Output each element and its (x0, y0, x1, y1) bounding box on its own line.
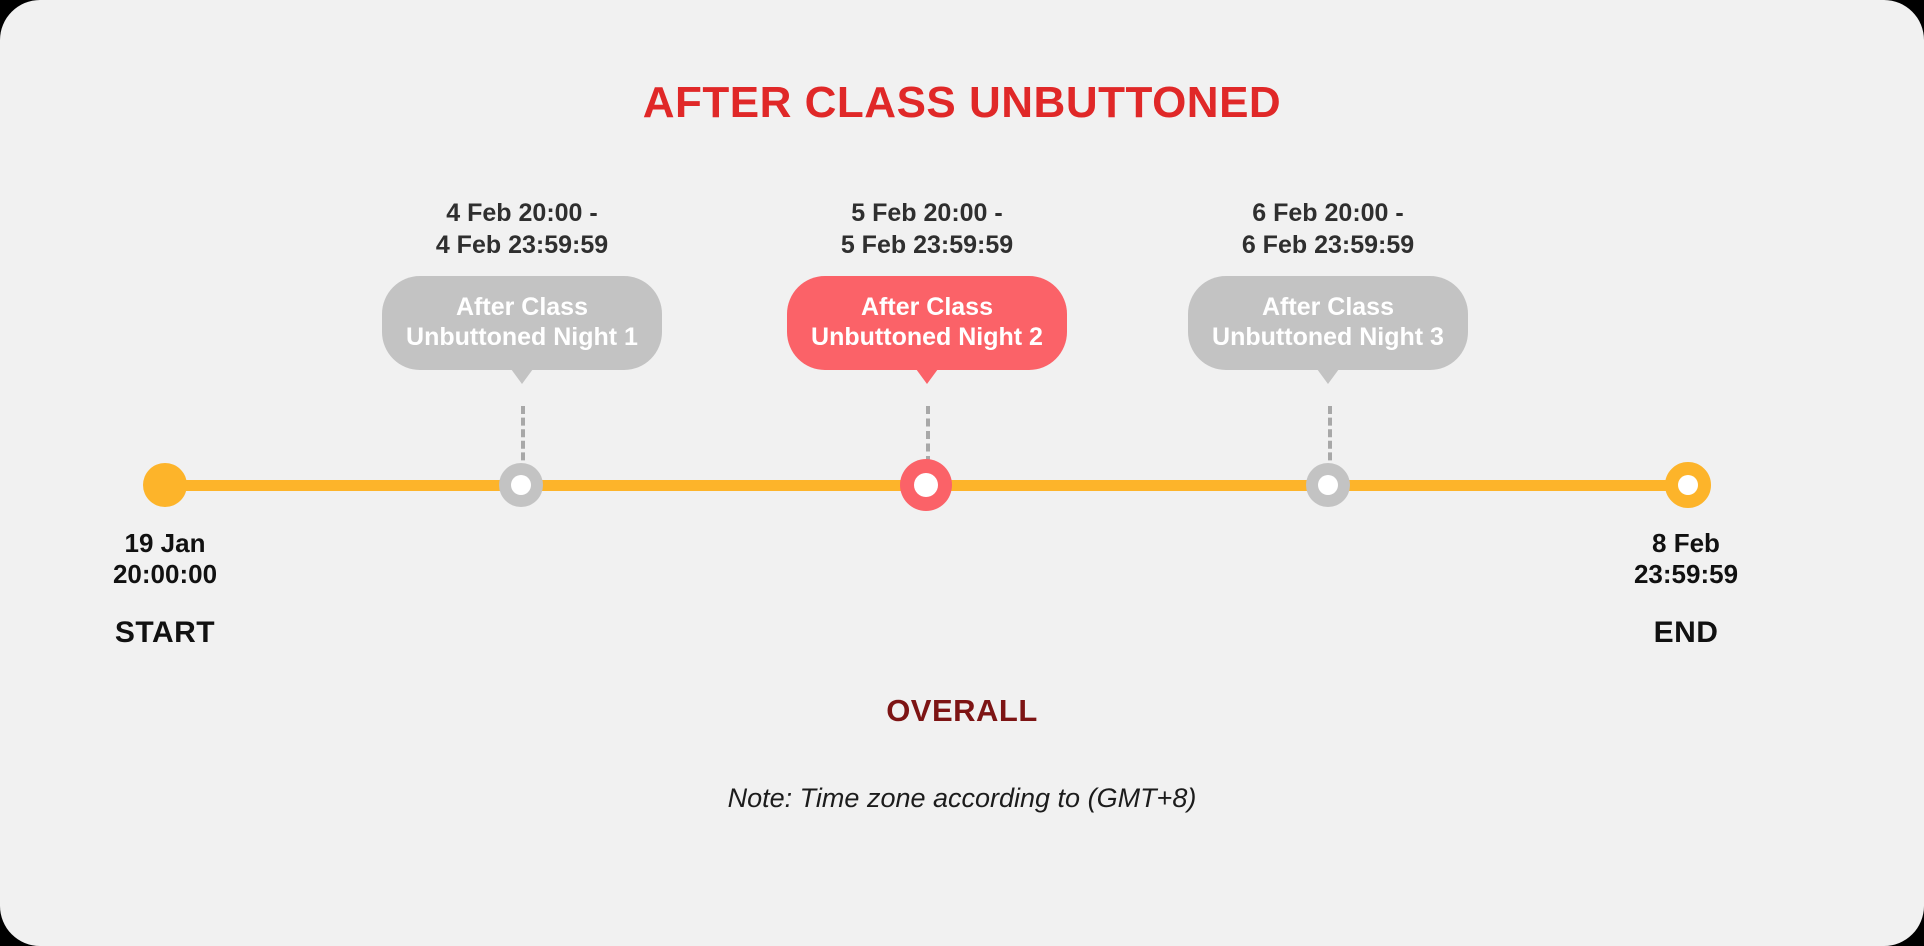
milestone-1-date-range: 4 Feb 20:00 - 4 Feb 23:59:59 (312, 198, 732, 262)
page-title: AFTER CLASS UNBUTTONED (0, 78, 1924, 128)
milestone-1-bubble[interactable]: After Class Unbuttoned Night 1 (382, 276, 662, 370)
timeline-milestone-2-dot[interactable] (900, 459, 952, 511)
timeline-start-dot[interactable] (143, 463, 187, 507)
milestone-2: 5 Feb 20:00 - 5 Feb 23:59:59 After Class… (717, 198, 1137, 370)
start-endpoint-label: 19 Jan 20:00:00 START (0, 528, 335, 650)
end-endpoint-label: 8 Feb 23:59:59 END (1516, 528, 1856, 650)
overall-label: OVERALL (0, 693, 1924, 729)
milestone-3-date-range: 6 Feb 20:00 - 6 Feb 23:59:59 (1118, 198, 1538, 262)
timeline-milestone-3-dot[interactable] (1306, 463, 1350, 507)
start-datetime: 19 Jan 20:00:00 (0, 528, 335, 590)
milestone-3: 6 Feb 20:00 - 6 Feb 23:59:59 After Class… (1118, 198, 1538, 370)
end-kind: END (1516, 616, 1856, 650)
start-kind: START (0, 616, 335, 650)
milestone-3-bubble[interactable]: After Class Unbuttoned Night 3 (1188, 276, 1468, 370)
milestone-2-bubble[interactable]: After Class Unbuttoned Night 2 (787, 276, 1067, 370)
milestone-2-connector (926, 406, 930, 464)
milestone-1: 4 Feb 20:00 - 4 Feb 23:59:59 After Class… (312, 198, 732, 370)
timezone-note: Note: Time zone according to (GMT+8) (0, 783, 1924, 814)
end-datetime: 8 Feb 23:59:59 (1516, 528, 1856, 590)
milestone-2-date-range: 5 Feb 20:00 - 5 Feb 23:59:59 (717, 198, 1137, 262)
timeline-end-dot[interactable] (1665, 462, 1711, 508)
timeline-milestone-1-dot[interactable] (499, 463, 543, 507)
timeline-card: AFTER CLASS UNBUTTONED 4 Feb 20:00 - 4 F… (0, 0, 1924, 946)
